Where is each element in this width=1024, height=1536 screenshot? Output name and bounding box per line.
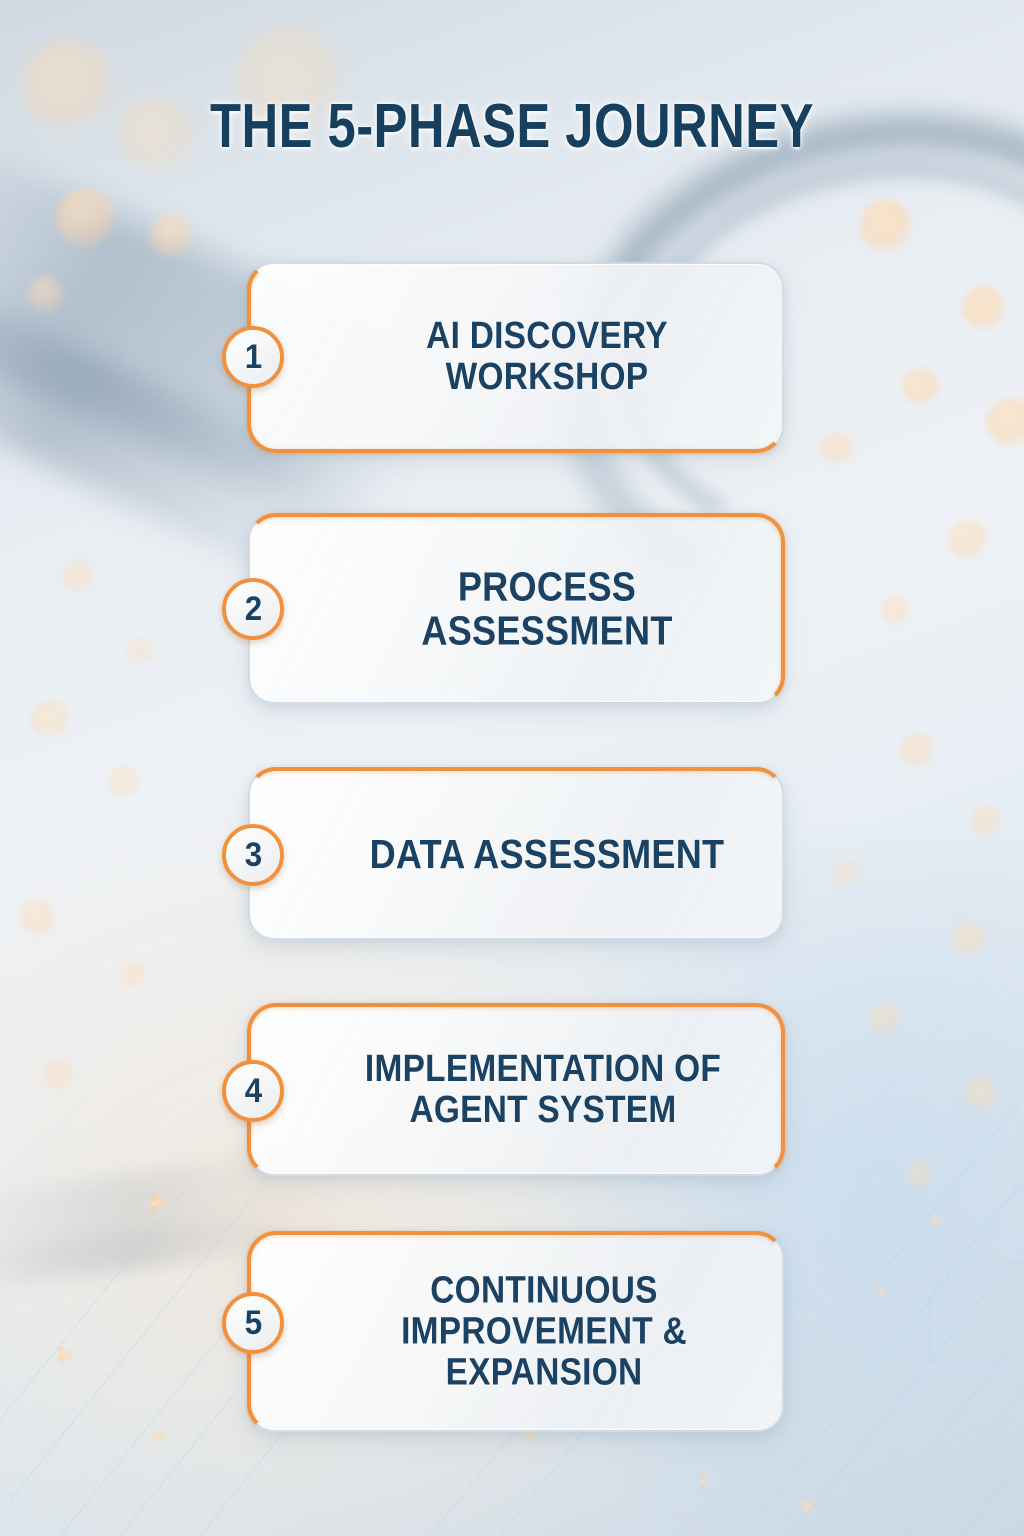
phase-label-4: IMPLEMENTATION OF AGENT SYSTEM — [349, 1049, 738, 1131]
phase-card-5[interactable]: CONTINUOUS IMPROVEMENT & EXPANSION — [248, 1232, 784, 1432]
phase-number-2: 2 — [244, 592, 261, 626]
phase-badge-3[interactable]: 3 — [222, 824, 284, 886]
page-title: THE 5-PHASE JOURNEY — [92, 96, 932, 158]
phase-number-3: 3 — [244, 838, 261, 872]
phase-badge-5[interactable]: 5 — [222, 1292, 284, 1354]
phase-number-4: 4 — [244, 1074, 261, 1108]
phase-label-2: PROCESS ASSESSMENT — [361, 565, 732, 654]
phase-card-2[interactable]: PROCESS ASSESSMENT — [248, 514, 784, 704]
infographic-canvas: THE 5-PHASE JOURNEY AI DISCOVERY WORKSHO… — [0, 0, 1024, 1536]
phase-card-1[interactable]: AI DISCOVERY WORKSHOP — [248, 262, 784, 452]
phase-card-4[interactable]: IMPLEMENTATION OF AGENT SYSTEM — [248, 1004, 784, 1176]
phase-number-5: 5 — [244, 1306, 261, 1340]
phase-label-3: DATA ASSESSMENT — [361, 832, 732, 876]
phase-label-1: AI DISCOVERY WORKSHOP — [361, 316, 732, 398]
phase-label-5: CONTINUOUS IMPROVEMENT & EXPANSION — [352, 1270, 736, 1393]
phase-card-3[interactable]: DATA ASSESSMENT — [248, 768, 784, 940]
phase-badge-4[interactable]: 4 — [222, 1060, 284, 1122]
phase-badge-1[interactable]: 1 — [222, 326, 284, 388]
phase-number-1: 1 — [244, 340, 261, 374]
phase-badge-2[interactable]: 2 — [222, 578, 284, 640]
